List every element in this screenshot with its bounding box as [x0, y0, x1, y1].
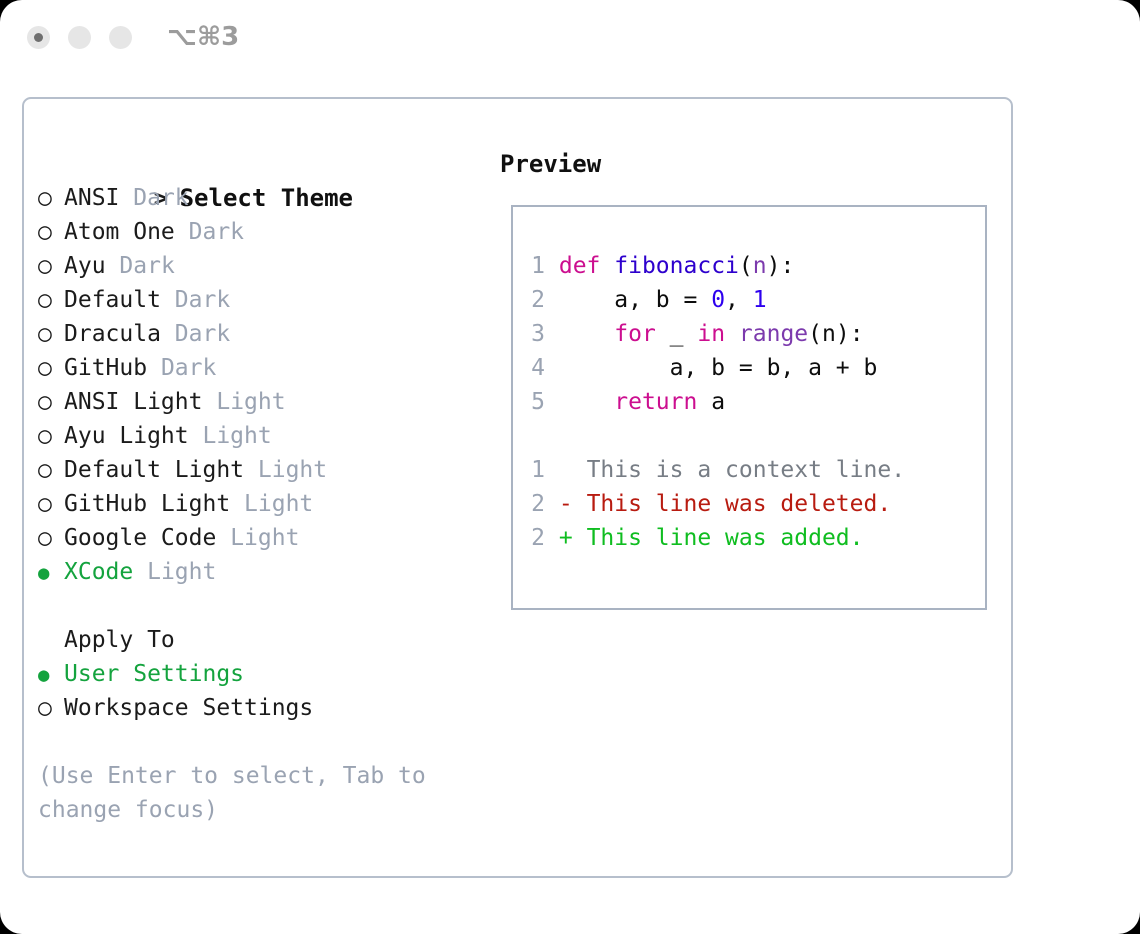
code-line: 2 a, b = 0, 1	[513, 283, 985, 317]
code-token: def	[559, 253, 601, 279]
window-dot-active[interactable]	[27, 26, 50, 49]
diff-marker: -	[559, 491, 587, 517]
diff-line-del: 2 - This line was deleted.	[513, 487, 985, 521]
code-token: (	[739, 253, 753, 279]
code-line: 3 for _ in range(n):	[513, 317, 985, 351]
theme-option-variant: Light	[147, 559, 216, 585]
radio-unselected-icon: ○	[38, 351, 64, 385]
code-token: n	[753, 253, 767, 279]
theme-option-label: ANSI	[64, 185, 119, 211]
code-line: 4 a, b = b, a + b	[513, 351, 985, 385]
radio-unselected-icon: ○	[38, 453, 64, 487]
apply-to-option-label: Workspace Settings	[64, 695, 313, 721]
radio-unselected-icon: ○	[38, 385, 64, 419]
radio-unselected-icon: ○	[38, 283, 64, 317]
list-spacer	[38, 589, 488, 623]
diff-sample: 1 This is a context line.2 - This line w…	[513, 453, 985, 555]
code-token	[725, 321, 739, 347]
theme-option-variant: Light	[216, 389, 285, 415]
theme-option-default-light[interactable]: ○Default Light Light	[38, 453, 488, 487]
theme-option-variant: Dark	[189, 219, 244, 245]
radio-unselected-icon: ○	[38, 215, 64, 249]
radio-unselected-icon: ○	[38, 691, 64, 725]
window-dot-3[interactable]	[109, 26, 132, 49]
theme-list-heading-label: Select Theme	[180, 184, 353, 212]
diff-line-text: This line was deleted.	[587, 491, 892, 517]
code-line-number: 2	[529, 283, 545, 317]
theme-option-label: Google Code	[64, 525, 216, 551]
code-line: 5 return a	[513, 385, 985, 419]
radio-unselected-icon: ○	[38, 487, 64, 521]
preview-title: Preview	[500, 147, 1000, 181]
code-line-number: 5	[529, 385, 545, 419]
theme-option-label: GitHub Light	[64, 491, 230, 517]
theme-option-label: ANSI Light	[64, 389, 202, 415]
code-token: 1	[753, 287, 767, 313]
code-token: range	[739, 321, 808, 347]
radio-unselected-icon: ○	[38, 521, 64, 555]
theme-option-ansi-light[interactable]: ○ANSI Light Light	[38, 385, 488, 419]
window-dot-2[interactable]	[68, 26, 91, 49]
radio-selected-icon: ●	[38, 658, 64, 692]
diff-line-number: 1	[529, 453, 545, 487]
diff-marker: +	[559, 525, 587, 551]
code-sample: 1 def fibonacci(n):2 a, b = 0, 13 for _ …	[513, 249, 985, 419]
theme-list-heading: >Select Theme	[38, 147, 488, 181]
diff-line-add: 2 + This line was added.	[513, 521, 985, 555]
theme-option-variant: Dark	[119, 253, 174, 279]
radio-unselected-icon: ○	[38, 419, 64, 453]
theme-option-label: XCode	[64, 559, 133, 585]
radio-unselected-icon: ○	[38, 181, 64, 215]
preview-code-box: 1 def fibonacci(n):2 a, b = 0, 13 for _ …	[511, 205, 987, 610]
diff-line-ctx: 1 This is a context line.	[513, 453, 985, 487]
theme-option-label: Ayu	[64, 253, 106, 279]
diff-line-number: 2	[529, 487, 545, 521]
theme-option-variant: Dark	[175, 321, 230, 347]
theme-option-ayu[interactable]: ○Ayu Dark	[38, 249, 488, 283]
app-window: ⌥⌘3 >Select Theme ○ANSI Dark○Atom One Da…	[0, 0, 1140, 934]
code-token: a	[697, 389, 725, 415]
window-dot-inner	[34, 33, 43, 42]
radio-unselected-icon: ○	[38, 317, 64, 351]
code-token: ,	[725, 287, 753, 313]
preview-column: Preview 1 def fibonacci(n):2 a, b = 0, 1…	[500, 147, 1000, 181]
radio-unselected-icon: ○	[38, 249, 64, 283]
theme-option-label: Atom One	[64, 219, 175, 245]
code-token: (n):	[808, 321, 863, 347]
code-token: a, b = b, a + b	[559, 355, 878, 381]
diff-line-number: 2	[529, 521, 545, 555]
code-token: fibonacci	[614, 253, 739, 279]
theme-option-label: Default Light	[64, 457, 244, 483]
theme-option-variant: Dark	[175, 287, 230, 313]
diff-marker	[559, 457, 587, 483]
theme-option-atom-one[interactable]: ○Atom One Dark	[38, 215, 488, 249]
code-token: return	[614, 389, 697, 415]
theme-option-variant: Light	[202, 423, 271, 449]
code-line-number: 3	[529, 317, 545, 351]
code-token: a, b =	[559, 287, 711, 313]
code-token: ):	[767, 253, 795, 279]
diff-line-text: This is a context line.	[587, 457, 906, 483]
apply-to-option-workspace-settings[interactable]: ○Workspace Settings	[38, 691, 488, 725]
diff-line-text: This line was added.	[587, 525, 864, 551]
theme-option-github[interactable]: ○GitHub Dark	[38, 351, 488, 385]
apply-to-options: ●User Settings○Workspace Settings	[38, 657, 488, 725]
theme-picker-panel: >Select Theme ○ANSI Dark○Atom One Dark○A…	[22, 97, 1013, 878]
theme-option-label: Dracula	[64, 321, 161, 347]
keyboard-shortcut-label: ⌥⌘3	[167, 22, 239, 52]
theme-option-label: Default	[64, 287, 161, 313]
theme-option-github-light[interactable]: ○GitHub Light Light	[38, 487, 488, 521]
window-controls	[27, 26, 132, 49]
code-token: _	[656, 321, 698, 347]
theme-option-default[interactable]: ○Default Dark	[38, 283, 488, 317]
theme-option-label: Ayu Light	[64, 423, 189, 449]
theme-option-label: GitHub	[64, 355, 147, 381]
theme-list-column: >Select Theme ○ANSI Dark○Atom One Dark○A…	[38, 147, 488, 827]
code-line-number: 4	[529, 351, 545, 385]
title-bar: ⌥⌘3	[0, 0, 1140, 78]
theme-option-ayu-light[interactable]: ○Ayu Light Light	[38, 419, 488, 453]
theme-option-google-code[interactable]: ○Google Code Light	[38, 521, 488, 555]
theme-option-variant: Light	[230, 525, 299, 551]
radio-selected-icon: ●	[38, 556, 64, 590]
theme-option-variant: Light	[244, 491, 313, 517]
theme-option-xcode[interactable]: ●XCode Light	[38, 555, 488, 589]
keyboard-hint: (Use Enter to select, Tab to change focu…	[38, 759, 448, 827]
code-token	[559, 389, 614, 415]
code-token: in	[697, 321, 725, 347]
code-token: 0	[711, 287, 725, 313]
code-token: for	[614, 321, 656, 347]
code-diff-spacer	[513, 419, 985, 453]
code-line: 1 def fibonacci(n):	[513, 249, 985, 283]
theme-options: ○ANSI Dark○Atom One Dark○Ayu Dark○Defaul…	[38, 181, 488, 589]
code-token	[600, 253, 614, 279]
theme-option-dracula[interactable]: ○Dracula Dark	[38, 317, 488, 351]
theme-option-variant: Dark	[161, 355, 216, 381]
theme-option-variant: Light	[258, 457, 327, 483]
apply-to-option-label: User Settings	[64, 661, 244, 687]
apply-to-title: Apply To	[38, 623, 488, 657]
apply-to-option-user-settings[interactable]: ●User Settings	[38, 657, 488, 691]
code-line-number: 1	[529, 249, 545, 283]
code-token	[559, 321, 614, 347]
theme-option-variant: Dark	[133, 185, 188, 211]
